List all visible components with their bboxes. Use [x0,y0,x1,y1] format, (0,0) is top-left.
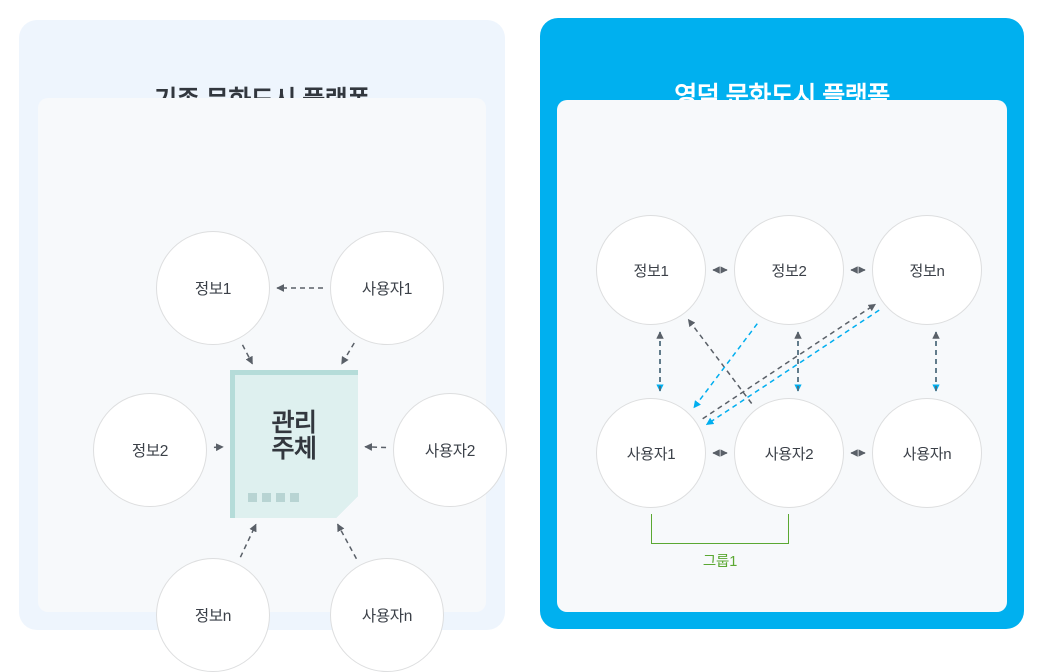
node-info2[interactable]: 정보2 [734,215,844,325]
node-label-info2: 정보2 [771,260,806,281]
panel-legacy-platform: 기존 문화도시 플랫폼 관리 주체 [19,20,505,630]
panel-legacy-canvas: 관리 주체 정보1사용자1정보2사용자2정보n사용자n [38,98,486,612]
central-authority-node: 관리 주체 [230,370,358,518]
node-label-usern: 사용자n [362,604,412,626]
node-usern[interactable]: 사용자n [872,398,982,508]
edge-infon-to-center [240,524,256,557]
edge-user2-to-center [365,447,386,448]
node-infon[interactable]: 정보n [156,558,270,672]
node-label-user1: 사용자1 [362,277,412,299]
group-label: 그룹1 [611,550,829,571]
edge-usern-to-center [338,524,357,559]
node-usern[interactable]: 사용자n [330,558,444,672]
node-label-info1: 정보1 [633,260,668,281]
node-label-usern: 사용자n [903,443,952,464]
central-authority-label: 관리 주체 [230,370,358,518]
node-label-info1: 정보1 [195,277,231,299]
node-user2[interactable]: 사용자2 [393,393,507,507]
group-bracket [651,514,789,544]
node-info1[interactable]: 정보1 [156,231,270,345]
edge-user1-to-center [342,343,355,364]
node-label-infon: 정보n [909,260,944,281]
edge-user2-to-info1 [688,320,751,404]
panel-new-canvas: 정보1정보2정보n사용자1사용자2사용자n 그룹1 [557,100,1007,612]
node-user1[interactable]: 사용자1 [596,398,706,508]
node-user1[interactable]: 사용자1 [330,231,444,345]
central-authority-line2: 주체 [271,436,316,463]
diagram-stage: 기존 문화도시 플랫폼 관리 주체 [0,0,1040,648]
node-user2[interactable]: 사용자2 [734,398,844,508]
edge-info2-to-user1 [694,324,757,408]
panel-new-platform: 영덕 문화도시 플랫폼 정보1정보2정보n사용자1사용자2사용자n 그룹1 [540,18,1024,629]
node-label-user2: 사용자2 [425,439,475,461]
node-infon[interactable]: 정보n [872,215,982,325]
node-label-user2: 사용자2 [765,443,814,464]
central-authority-line1: 관리 [271,410,316,437]
node-info2[interactable]: 정보2 [93,393,207,507]
node-info1[interactable]: 정보1 [596,215,706,325]
legacy-edge-layer [38,98,486,612]
edge-info1-to-center [242,345,252,364]
node-label-infon: 정보n [195,604,231,626]
node-label-user1: 사용자1 [627,443,676,464]
node-label-info2: 정보2 [132,439,168,461]
